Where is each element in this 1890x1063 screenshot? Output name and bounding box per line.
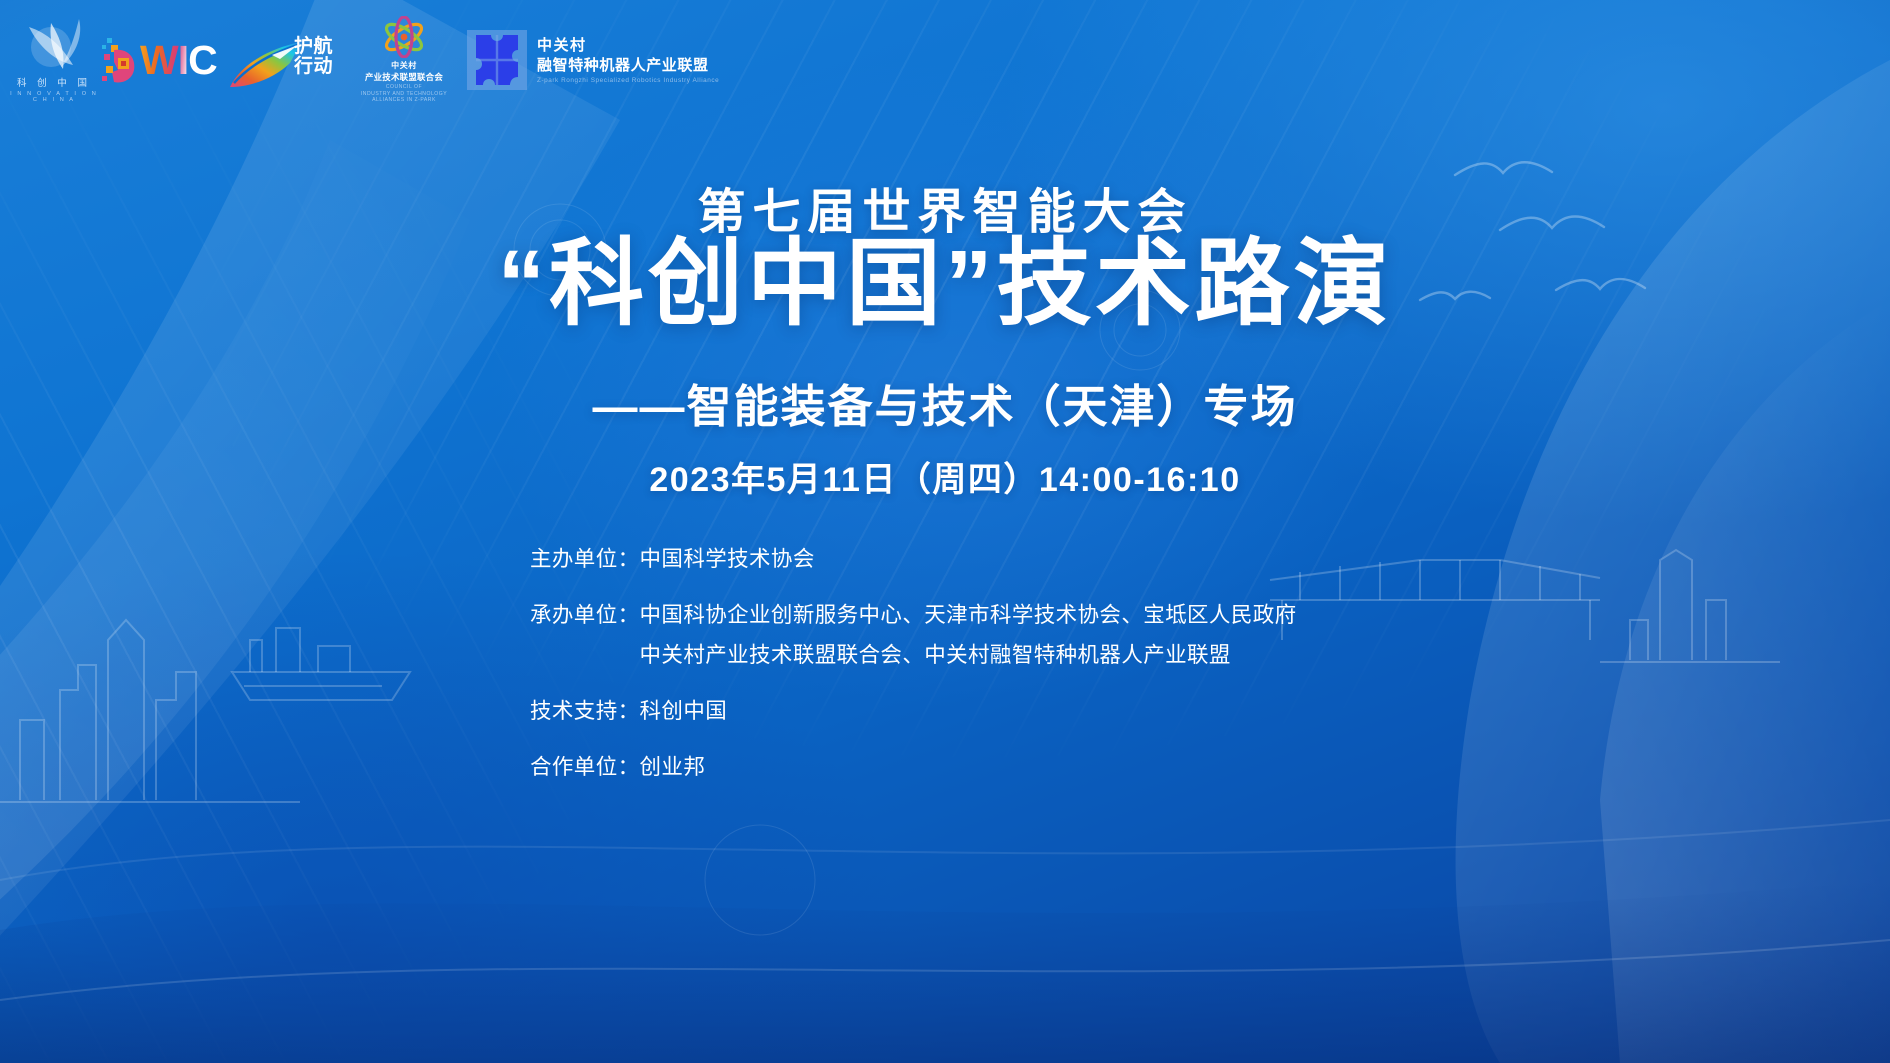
organizer-value: 中国科学技术协会 <box>640 546 1360 574</box>
organizer-label: 承办单位： <box>530 602 640 630</box>
logo-zpark-council-en2: INDUSTRY AND TECHNOLOGY <box>361 91 447 98</box>
organizer-row-continuation: 承办单位： 中关村产业技术联盟联合会、中关村融智特种机器人产业联盟 <box>530 642 1360 670</box>
organizer-row: 合作单位： 创业邦 <box>530 754 1360 782</box>
organizer-value: 创业邦 <box>640 754 1360 782</box>
organizer-row: 主办单位： 中国科学技术协会 <box>530 546 1360 574</box>
logo-huhang-xingdong[interactable]: 护航 行动 <box>228 17 356 103</box>
logo-wic-text: WIC <box>140 40 217 81</box>
logo-innovation-china[interactable]: 科 创 中 国 I N N O V A T I O N C H I N A <box>6 17 102 103</box>
organizer-label: 技术支持： <box>530 698 640 726</box>
logo-huhang-line2: 行动 <box>294 57 333 77</box>
logo-rongzhi-cn1: 中关村 <box>537 36 719 55</box>
organizer-label: 主办单位： <box>530 546 640 574</box>
logo-innovation-china-en: I N N O V A T I O N C H I N A <box>6 91 102 103</box>
logo-innovation-china-cn: 科 创 中 国 <box>6 75 102 89</box>
page-title: “科创中国”技术路演 <box>0 228 1890 340</box>
organizer-list: 主办单位： 中国科学技术协会 承办单位： 中国科协企业创新服务中心、天津市科学技… <box>0 546 1890 782</box>
organizer-value: 科创中国 <box>640 698 1360 726</box>
logo-rongzhi-cn2: 融智特种机器人产业联盟 <box>537 56 719 75</box>
event-datetime: 2023年5月11日（周四）14:00-16:10 <box>0 452 1890 501</box>
event-subtitle: ——智能装备与技术（天津）专场 <box>0 370 1890 435</box>
organizer-row: 技术支持： 科创中国 <box>530 698 1360 726</box>
organizer-value-continuation: 中关村产业技术联盟联合会、中关村融智特种机器人产业联盟 <box>640 642 1360 670</box>
main-content: 第七届世界智能大会 “科创中国”技术路演 ——智能装备与技术（天津）专场 202… <box>0 0 1890 1063</box>
organizer-row: 承办单位： 中国科协企业创新服务中心、天津市科学技术协会、宝坻区人民政府 <box>530 602 1360 630</box>
bird-mark-icon <box>21 17 95 73</box>
logo-bar: 科 创 中 国 I N N O V A T I O N C H I N A WI… <box>0 0 1890 120</box>
logo-huhang-line1: 护航 <box>294 37 333 57</box>
logo-wic[interactable]: WIC <box>102 20 228 100</box>
logo-zpark-council-en3: ALLIANCES IN Z-PARK <box>361 97 447 104</box>
logo-zpark-council-cn1: 中关村 <box>391 60 417 71</box>
rainbow-swoosh-icon <box>228 31 304 93</box>
logo-rongzhi-en: Z-park Rongzhi Specialized Robotics Indu… <box>537 77 719 84</box>
organizer-label: 合作单位： <box>530 754 640 782</box>
x-cross-mark-icon <box>466 29 528 91</box>
atom-orbit-icon <box>376 16 432 58</box>
logo-zpark-rongzhi-robotics[interactable]: 中关村 融智特种机器人产业联盟 Z-park Rongzhi Specializ… <box>452 14 752 106</box>
poster-canvas: 科 创 中 国 I N N O V A T I O N C H I N A WI… <box>0 0 1890 1063</box>
organizer-value: 中国科协企业创新服务中心、天津市科学技术协会、宝坻区人民政府 <box>640 602 1360 630</box>
wic-face-icon <box>102 36 138 86</box>
logo-zpark-council-en1: COUNCIL OF <box>361 84 447 91</box>
logo-huhang-text: 护航 行动 <box>294 37 333 77</box>
logo-zpark-council-cn2: 产业技术联盟联合会 <box>365 71 443 83</box>
logo-zpark-council[interactable]: 中关村 产业技术联盟联合会 COUNCIL OF INDUSTRY AND TE… <box>356 14 452 106</box>
